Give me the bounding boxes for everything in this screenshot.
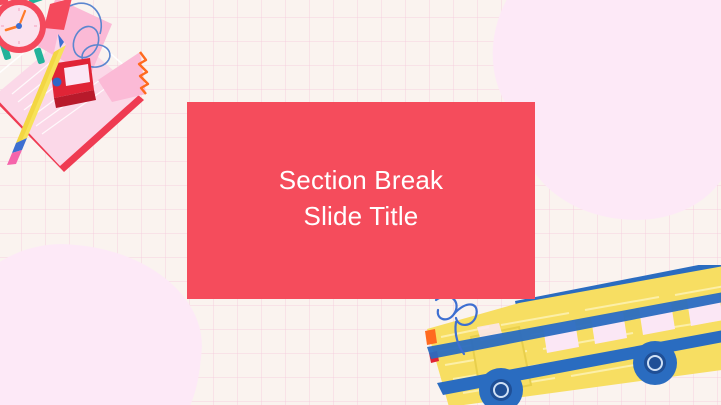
alarm-clock-icon — [0, 0, 46, 65]
slide-title-text: Section Break Slide Title — [279, 163, 443, 239]
blue-doodle-squiggle — [432, 292, 502, 358]
bus-wheel-rear — [633, 341, 677, 385]
section-break-title-block: Section Break Slide Title — [187, 102, 535, 299]
school-supplies-illustration — [0, 0, 184, 180]
slide-canvas: Section Break Slide Title — [0, 0, 721, 405]
